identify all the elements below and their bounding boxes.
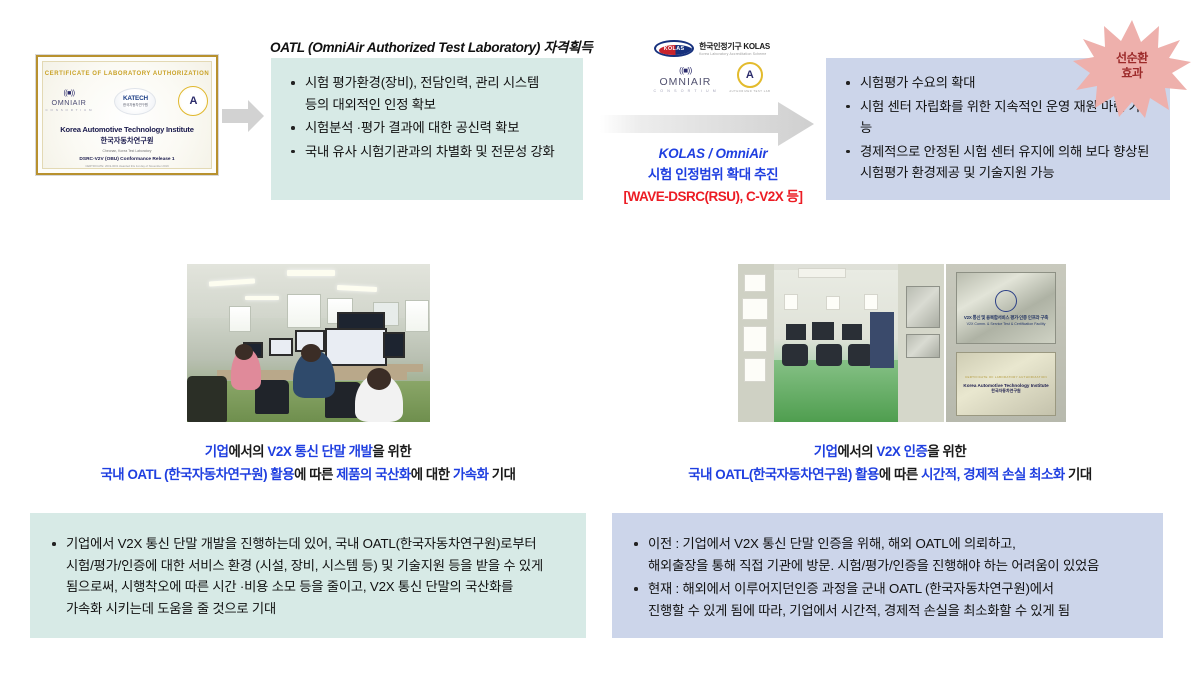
v2x-certification-facility-entrance-photo	[738, 264, 944, 422]
slide-root: CERTIFICATE OF LABORATORY AUTHORIZATION …	[0, 0, 1200, 687]
caption-line-2: 국내 OATL (한국자동차연구원) 활용에 따른 제품의 국산화에 대한 가속…	[30, 463, 586, 486]
bottom-left-caption: 기업에서의 V2X 통신 단말 개발을 위한 국내 OATL (한국자동차연구원…	[30, 440, 586, 487]
certificate-location: Cheonan, Korea Test Laboratory	[103, 149, 152, 153]
bullet-line: 됨으로써, 시행착오에 따른 시간 ·비용 소모 등을 줄이고, V2X 통신 …	[66, 576, 566, 598]
bullet-line: 경제적으로 안정된 시험 센터 유지에 의해 보다 향상된	[860, 141, 1152, 163]
certificate-title-en: Korea Automotive Technology Institute	[60, 125, 194, 134]
bullet-line: 진행할 수 있게 됨에 따라, 기업에서 시간적, 경제적 손실을 최소화할 수…	[648, 600, 1143, 622]
facility-name-plaque: V2X 통신 및 융복합서비스 평가·인증 인프라 구축 V2X Comm. &…	[956, 272, 1056, 344]
omniair-wave-icon: ((■))	[63, 90, 74, 97]
bottom-left-detail-panel: 기업에서 V2X 통신 단말 개발을 진행하는데 있어, 국내 OATL(한국자…	[30, 513, 586, 638]
starburst-line1: 선순환	[1116, 51, 1148, 66]
wall-cert-header: CERTIFICATE OF LABORATORY AUTHORIZATION	[965, 375, 1047, 379]
katech-logo-en: KATECH	[123, 95, 148, 102]
omniair-logo: ((■)) OMNIAIR C O N S O R T I U M	[46, 90, 93, 112]
oatl-benefits-list: 시험 평가환경(장비), 전담인력, 관리 시스템 등의 대외적인 인정 확보 …	[289, 72, 565, 162]
bullet-line: 등의 대외적인 인정 확보	[305, 94, 565, 116]
virtuous-cycle-starburst-badge: 선순환 효과	[1073, 18, 1191, 118]
oatl-section-title: OATL (OmniAir Authorized Test Laboratory…	[270, 36, 592, 56]
bullet-line: 시험/평가/인증에 대한 서비스 환경 (시설, 장비, 시스템 등) 및 기술…	[66, 555, 566, 577]
caption-line-1: 기업에서의 V2X 통신 단말 개발을 위한	[30, 440, 586, 463]
kolas-oval-text: KOLAS	[664, 46, 685, 52]
caption-seg: 에서의	[837, 444, 876, 459]
caption-seg: 에 따른	[879, 467, 921, 482]
mid-label-line2: 시험 인정범위 확대 추진	[598, 163, 828, 183]
bullet-line: 이전 : 기업에서 V2X 통신 단말 인증을 위해, 해외 OATL에 의뢰하…	[648, 533, 1143, 555]
bullet-line: 시험평가 환경제공 및 기술지원 가능	[860, 162, 1152, 184]
caption-seg: 시간적, 경제적 손실 최소화	[921, 467, 1065, 482]
kolas-oval-icon: KOLAS	[654, 40, 694, 57]
caption-seg: 기업	[814, 444, 838, 459]
omniair-logo-sub: C O N S O R T I U M	[46, 108, 93, 112]
caption-seg: 에 대한	[411, 467, 453, 482]
kolas-omniair-logo-cluster: KOLAS 한국인정기구 KOLAS Korea Laboratory Accr…	[638, 40, 786, 93]
mid-label-line3: [WAVE-DSRC(RSU), C-V2X 등]	[598, 185, 828, 205]
caption-seg: 기업	[205, 444, 229, 459]
caption-seg: 국내 OATL (한국자동차연구원) 활용	[100, 467, 294, 482]
oatl-benefits-panel: 시험 평가환경(장비), 전담인력, 관리 시스템 등의 대외적인 인정 확보 …	[271, 58, 583, 200]
v2x-facility-wall-plaque-photo: V2X 통신 및 융복합서비스 평가·인증 인프라 구축 V2X Comm. &…	[946, 264, 1066, 422]
caption-seg: 기대	[1065, 467, 1092, 482]
list-item: 시험분석 ·평가 결과에 대한 공신력 확보	[289, 117, 565, 139]
wall-mounted-certificate: CERTIFICATE OF LABORATORY AUTHORIZATION …	[956, 352, 1056, 416]
oatl-certificate-image: CERTIFICATE OF LABORATORY AUTHORIZATION …	[36, 55, 218, 175]
certificate-title-kr: 한국자동차연구원	[101, 136, 154, 146]
kolas-name-en: Korea Laboratory Accreditation Scheme	[699, 52, 770, 56]
list-item: 이전 : 기업에서 V2X 통신 단말 인증을 위해, 해외 OATL에 의뢰하…	[632, 533, 1143, 576]
starburst-line2: 효과	[1121, 66, 1142, 81]
plaque-title-kr: V2X 통신 및 융복합서비스 평가·인증 인프라 구축	[964, 315, 1048, 321]
bullet-line: 해외출장을 통해 직접 기관에 방문. 시험/평가/인증을 진행해야 하는 어려…	[648, 555, 1143, 577]
caption-seg: 을 위한	[927, 444, 966, 459]
list-item: 기업에서 V2X 통신 단말 개발을 진행하는데 있어, 국내 OATL(한국자…	[50, 533, 566, 619]
arrow-right-icon-2	[600, 102, 814, 146]
caption-seg: V2X 인증	[876, 444, 927, 459]
list-item: 시험 평가환경(장비), 전담인력, 관리 시스템 등의 대외적인 인정 확보	[289, 72, 565, 115]
bullet-line: 가속화 시키는데 도움을 줄 것으로 기대	[66, 598, 566, 620]
kolas-logo: KOLAS 한국인정기구 KOLAS Korea Laboratory Accr…	[654, 40, 770, 57]
bottom-right-detail-panel: 이전 : 기업에서 V2X 통신 단말 인증을 위해, 해외 OATL에 의뢰하…	[612, 513, 1163, 638]
katech-logo: KATECH 한국자동차연구원	[114, 88, 156, 115]
kolas-omniair-expansion-label: KOLAS / OmniAir 시험 인정범위 확대 추진 [WAVE-DSRC…	[598, 146, 828, 205]
bullet-line: 시험 평가환경(장비), 전담인력, 관리 시스템	[305, 72, 565, 94]
caption-seg: V2X 통신 단말 개발	[267, 444, 372, 459]
wall-cert-name-kr: 한국자동차연구원	[991, 388, 1020, 394]
caption-seg: 제품의 국산화	[336, 467, 411, 482]
bottom-right-caption: 기업에서의 V2X 인증을 위한 국내 OATL(한국자동차연구원) 활용에 따…	[612, 440, 1168, 487]
list-item: 국내 유사 시험기관과의 차별화 및 전문성 강화	[289, 141, 565, 163]
kolas-name-kr: 한국인정기구 KOLAS	[699, 41, 770, 52]
seal-letter: A	[746, 70, 754, 81]
arrow-right-icon-1	[222, 100, 264, 132]
authorized-test-lab-seal-icon: A	[737, 62, 763, 88]
list-item: 현재 : 해외에서 이루어지던인증 과정을 군내 OATL (한국자동차연구원)…	[632, 578, 1143, 621]
certificate-header: CERTIFICATE OF LABORATORY AUTHORIZATION	[45, 71, 209, 77]
caption-seg: 에 따른	[294, 467, 336, 482]
omniair-logo-sub: C O N S O R T I U M	[654, 89, 718, 93]
plaque-title-en: V2X Comm. & Service Test & Certification…	[967, 322, 1046, 326]
starburst-label: 선순환 효과	[1073, 18, 1191, 118]
omniair-logo-name: OMNIAIR	[52, 98, 87, 107]
v2x-lab-photo	[187, 264, 430, 422]
bullet-line: 시험분석 ·평가 결과에 대한 공신력 확보	[305, 117, 565, 139]
certificate-logos: ((■)) OMNIAIR C O N S O R T I U M KATECH…	[46, 86, 209, 116]
katech-seal-icon	[995, 290, 1017, 312]
list-item: 경제적으로 안정된 시험 센터 유지에 의해 보다 향상된 시험평가 환경제공 …	[844, 141, 1152, 184]
caption-seg: 국내 OATL(한국자동차연구원) 활용	[688, 467, 879, 482]
bottom-left-detail-list: 기업에서 V2X 통신 단말 개발을 진행하는데 있어, 국내 OATL(한국자…	[50, 533, 566, 619]
caption-seg: 에서의	[228, 444, 267, 459]
bullet-line: 국내 유사 시험기관과의 차별화 및 전문성 강화	[305, 141, 565, 163]
caption-line-2: 국내 OATL(한국자동차연구원) 활용에 따른 시간적, 경제적 손실 최소화…	[612, 463, 1168, 486]
authorized-test-lab-seal-icon: A	[178, 86, 208, 116]
katech-logo-kr: 한국자동차연구원	[123, 102, 148, 107]
bullet-line: 현재 : 해외에서 이루어지던인증 과정을 군내 OATL (한국자동차연구원)…	[648, 578, 1143, 600]
certificate-release: DSRC-V2V (OBU) Conformance Release 1	[79, 157, 174, 162]
caption-seg: 을 위한	[372, 444, 411, 459]
bullet-line: 기업에서 V2X 통신 단말 개발을 진행하는데 있어, 국내 OATL(한국자…	[66, 533, 566, 555]
omniair-logo-name: OMNIAIR	[659, 76, 711, 88]
certificate-number: CERTIFICATE: 2019-0001 Awarded this 1st …	[85, 164, 168, 168]
mid-label-line1: KOLAS / OmniAir	[598, 146, 828, 161]
seal-letter: A	[189, 96, 197, 107]
caption-line-1: 기업에서의 V2X 인증을 위한	[612, 440, 1168, 463]
omniair-consortium-logo: ((■)) OMNIAIR C O N S O R T I U M	[654, 67, 718, 93]
caption-seg: 가속화	[453, 467, 489, 482]
caption-seg: 기대	[489, 467, 516, 482]
bottom-right-detail-list: 이전 : 기업에서 V2X 통신 단말 인증을 위해, 해외 OATL에 의뢰하…	[632, 533, 1143, 621]
omniair-wave-icon: ((■))	[679, 67, 692, 75]
seal-caption: AUTHORIZED TEST LAB	[729, 90, 770, 93]
